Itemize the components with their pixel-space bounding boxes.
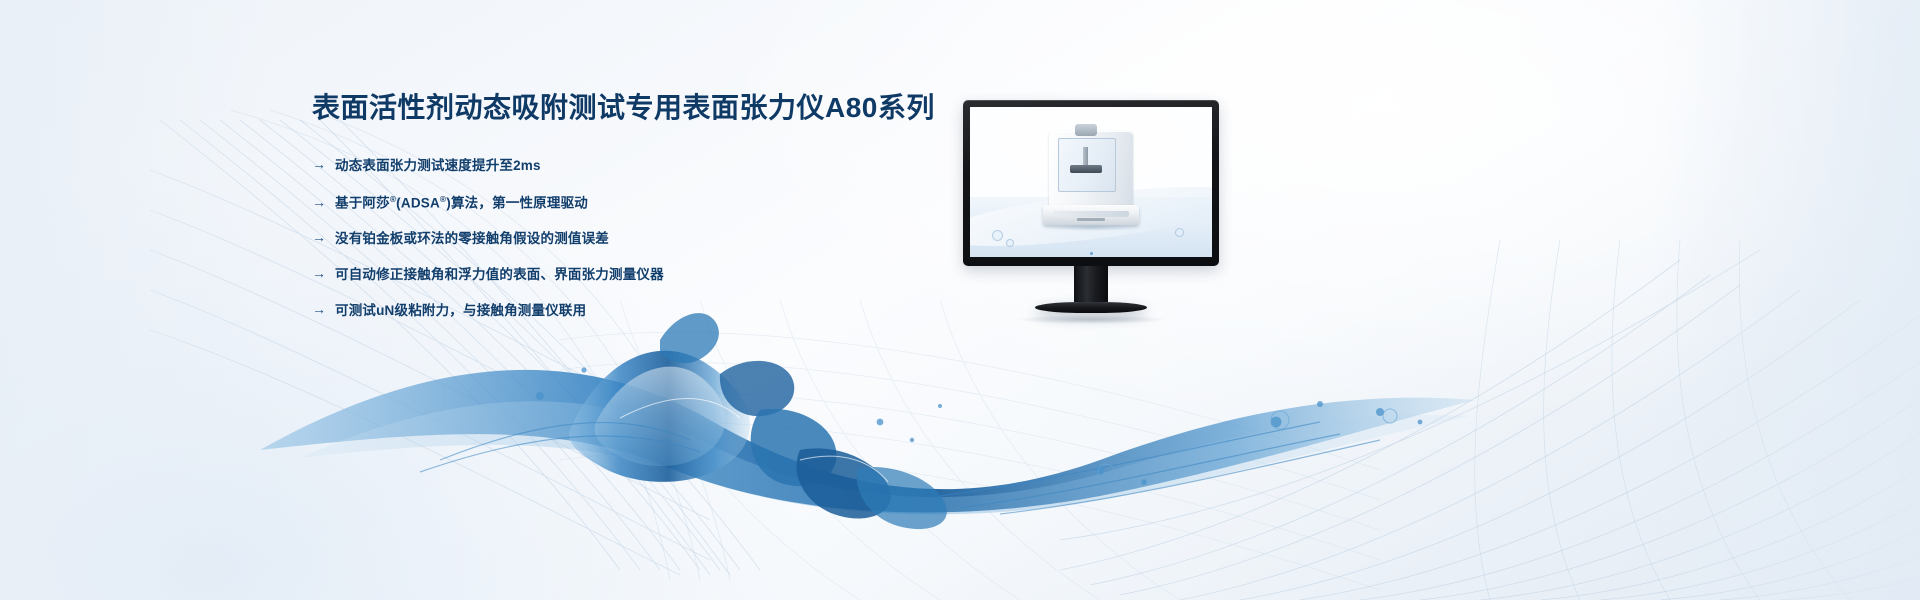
monitor-shadow — [1016, 315, 1166, 324]
feature-list: → 动态表面张力测试速度提升至2ms → 基于阿莎®(ADSA®)算法，第一性原… — [312, 158, 1012, 320]
instrument-photo — [970, 107, 1212, 257]
feature-item-3: → 没有铂金板或环法的零接触角假设的测值误差 — [312, 231, 1012, 248]
monitor-screen — [970, 107, 1212, 257]
bubble-decor-3 — [1175, 228, 1184, 237]
monitor-stand-base — [1035, 302, 1147, 313]
page-title: 表面活性剂动态吸附测试专用表面张力仪A80系列 — [312, 92, 1012, 124]
feature-label: 可自动修正接触角和浮力值的表面、界面张力测量仪器 — [335, 267, 664, 284]
arrow-right-icon: → — [312, 266, 326, 280]
arrow-right-icon: → — [312, 230, 326, 244]
feature-item-5: → 可测试uN级粘附力，与接触角测量仪联用 — [312, 303, 1012, 320]
feature-label: 没有铂金板或环法的零接触角假设的测值误差 — [335, 231, 609, 248]
instrument-weighing-pan — [1070, 165, 1102, 173]
hero-text-block: 表面活性剂动态吸附测试专用表面张力仪A80系列 → 动态表面张力测试速度提升至2… — [312, 92, 1012, 339]
instrument-display — [1077, 218, 1105, 221]
monitor-stand-neck — [1074, 266, 1108, 302]
feature-item-4: → 可自动修正接触角和浮力值的表面、界面张力测量仪器 — [312, 267, 1012, 284]
feature-item-1: → 动态表面张力测试速度提升至2ms — [312, 158, 1012, 175]
mesh-decoration-center — [560, 300, 1380, 600]
power-led-indicator — [1090, 252, 1093, 255]
tensiometer-instrument — [1043, 131, 1139, 243]
monitor-bezel — [963, 100, 1219, 266]
arrow-right-icon: → — [312, 302, 326, 316]
instrument-control-panel — [1053, 211, 1129, 217]
feature-item-2: → 基于阿莎®(ADSA®)算法，第一性原理驱动 — [312, 194, 1012, 212]
arrow-right-icon: → — [312, 157, 326, 171]
arrow-right-icon: → — [312, 195, 326, 209]
bubble-decor-1 — [992, 230, 1003, 241]
lcd-monitor — [963, 100, 1219, 324]
instrument-column — [1083, 147, 1088, 167]
bubble-decor-2 — [1006, 239, 1014, 247]
product-hero-banner: 表面活性剂动态吸附测试专用表面张力仪A80系列 → 动态表面张力测试速度提升至2… — [0, 0, 1920, 600]
feature-label: 动态表面张力测试速度提升至2ms — [335, 158, 541, 175]
instrument-shadow — [1047, 224, 1135, 231]
feature-label: 基于阿莎®(ADSA®)算法，第一性原理驱动 — [335, 194, 588, 212]
feature-label: 可测试uN级粘附力，与接触角测量仪联用 — [335, 303, 586, 320]
instrument-cap — [1075, 124, 1097, 136]
